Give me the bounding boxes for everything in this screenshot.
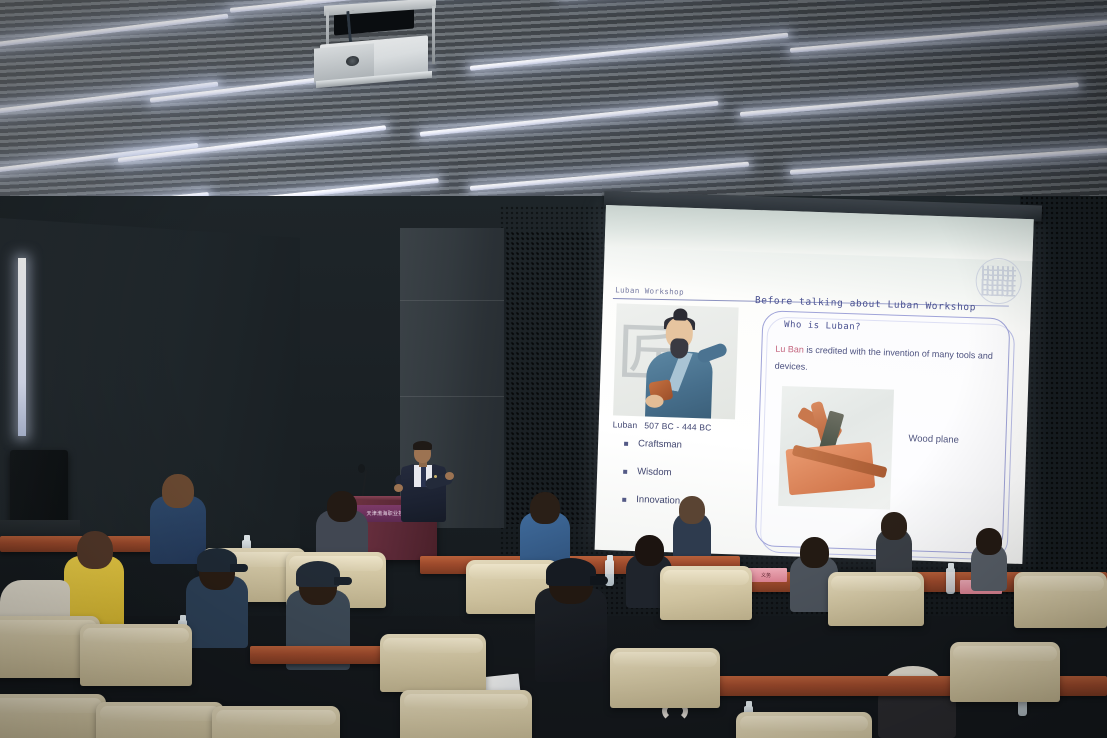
- list-item: Wisdom: [623, 466, 756, 481]
- audience-member: [186, 576, 248, 648]
- auditorium-scene: Luban Workshop Before talking about Luba…: [0, 0, 1107, 738]
- luban-dates: 507 BC - 444 BC: [644, 420, 712, 432]
- slide-corner-label: Luban Workshop: [615, 285, 684, 296]
- ceiling-strip-light: [0, 82, 218, 117]
- auditorium-seat[interactable]: [400, 690, 532, 738]
- ceiling-strip-light: [470, 33, 789, 71]
- luban-portrait-image: 匠: [613, 303, 739, 419]
- ceiling-strip-light: [740, 82, 1079, 117]
- slide: Luban Workshop Before talking about Luba…: [595, 243, 1033, 564]
- right-wall-panel: [1020, 196, 1107, 596]
- loudspeaker: [10, 450, 68, 528]
- ceiling-strip-light: [0, 143, 199, 177]
- auditorium-seat[interactable]: [736, 712, 872, 738]
- answer-highlight: Lu Ban: [775, 344, 804, 355]
- ceiling-strip-light: [420, 101, 719, 137]
- auditorium-seat[interactable]: [96, 702, 224, 738]
- perforated-wall-panel: [506, 232, 602, 524]
- ceiling-projector: [310, 2, 450, 94]
- auditorium-seat[interactable]: [380, 634, 486, 692]
- water-bottle: [946, 568, 955, 594]
- auditorium-seat[interactable]: [828, 572, 924, 626]
- auditorium-seat[interactable]: [1014, 572, 1107, 628]
- luban-name: Luban: [613, 419, 638, 430]
- wood-plane-caption: Wood plane: [908, 433, 959, 446]
- auditorium-seat[interactable]: [80, 624, 192, 686]
- university-seal-logo: [975, 257, 1022, 304]
- auditorium-seat[interactable]: [212, 706, 340, 738]
- auditorium-seat[interactable]: [0, 694, 106, 738]
- ceiling-strip-light: [118, 125, 387, 163]
- luban-name-and-dates: Luban507 BC - 444 BC: [613, 419, 758, 434]
- cap-brim: [230, 564, 248, 572]
- ceiling-strip-light: [0, 14, 228, 49]
- answer-rest: is credited with the invention of many t…: [775, 345, 993, 372]
- vertical-wall-light: [18, 258, 26, 436]
- cap-brim: [590, 576, 608, 585]
- auditorium-seat[interactable]: [660, 566, 752, 620]
- ceiling-strip-light: [790, 148, 1107, 175]
- ceiling-strip-light: [470, 162, 749, 191]
- audience-member: [150, 496, 206, 564]
- cap-brim: [334, 577, 352, 585]
- list-item: Craftsman: [624, 438, 757, 453]
- audience-member: [535, 588, 607, 682]
- auditorium-seat[interactable]: [950, 642, 1060, 702]
- placard-text: 义务: [761, 572, 771, 579]
- presenter: [393, 443, 455, 533]
- slide-left-column: 匠 Luban507 BC - 444 BC Craftsman Wi: [610, 303, 762, 526]
- auditorium-seat[interactable]: [610, 648, 720, 708]
- audience-member: [971, 543, 1007, 591]
- projection-screen: Luban Workshop Before talking about Luba…: [595, 205, 1034, 564]
- microphone-icon: [358, 464, 365, 473]
- projector-rod: [432, 6, 435, 64]
- baseball-cap: [546, 558, 596, 586]
- ceiling-strip-light: [790, 19, 1107, 53]
- wood-plane-image: [778, 386, 894, 510]
